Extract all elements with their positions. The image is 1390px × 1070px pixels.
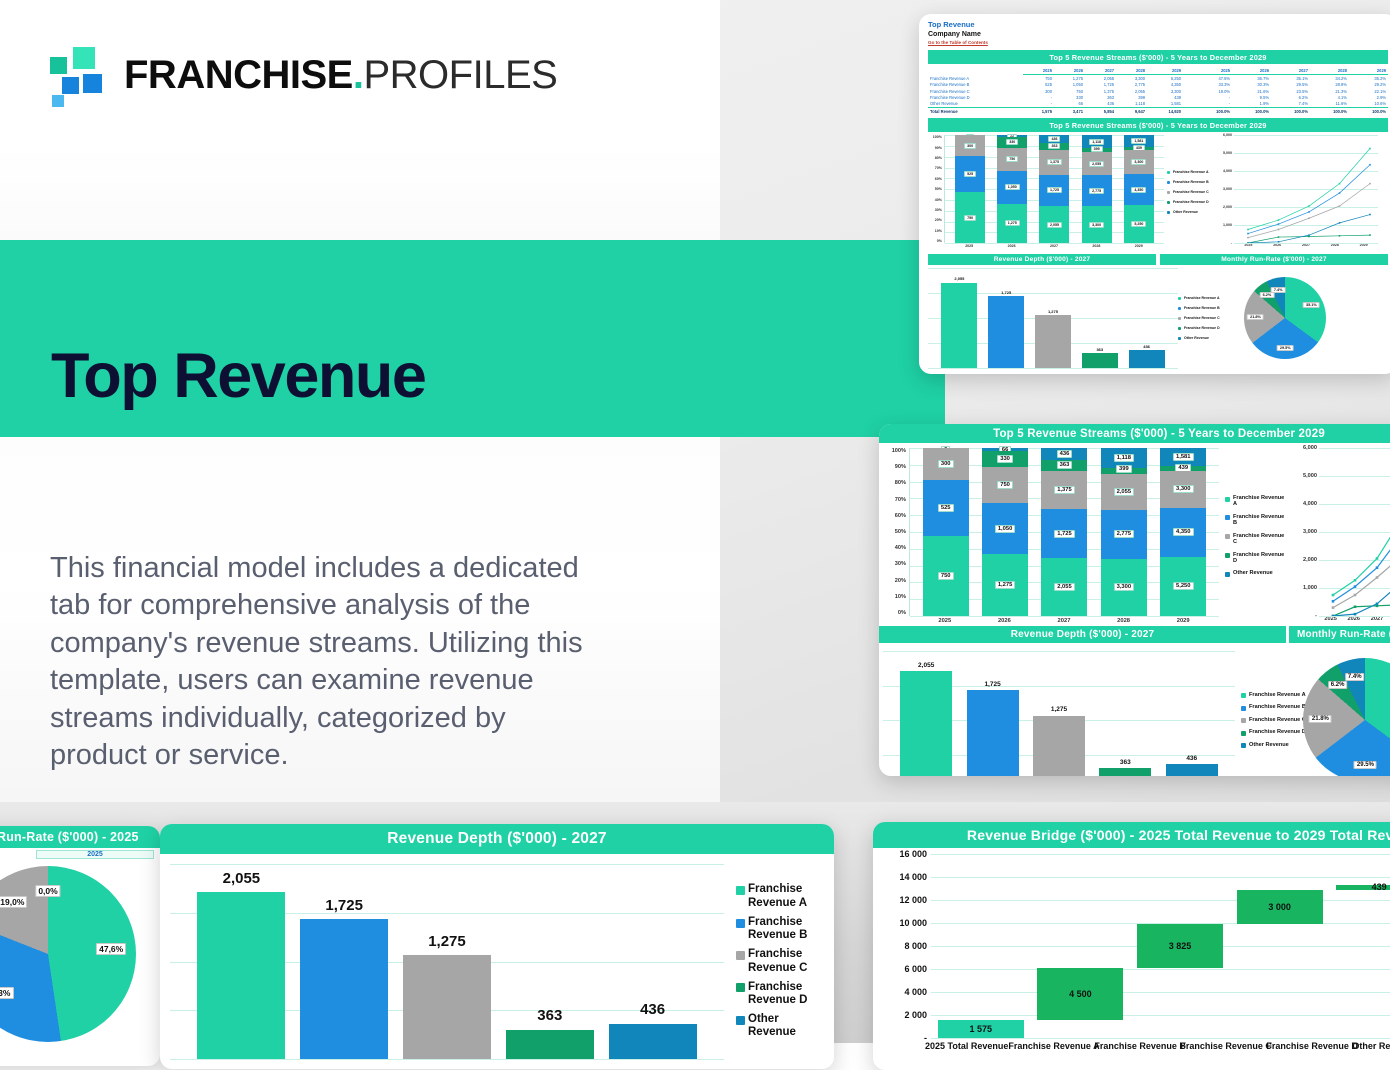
line-series [1333, 469, 1390, 595]
legend-swatch [1178, 307, 1181, 310]
legend-swatch [1178, 297, 1181, 300]
legend-label: Franchise Revenue D [1184, 326, 1220, 330]
stacked-bar-segment: 436 [1041, 448, 1087, 460]
axis-category-label: 2029 [1160, 618, 1206, 624]
data-label: 300 [938, 460, 954, 468]
pie-chart: 35.1%29.5%21.8%6.2%7.4% [1244, 277, 1326, 359]
line-marker [1369, 235, 1371, 237]
line-marker [1332, 615, 1335, 616]
line-marker [1369, 148, 1371, 150]
legend-label: Franchise Revenue B [1173, 180, 1209, 184]
line-marker [1354, 594, 1357, 597]
legend-swatch [1225, 572, 1230, 577]
data-label: 1,275 [1051, 706, 1067, 713]
legend-swatch [1241, 731, 1246, 736]
data-label: 1,118 [1114, 454, 1134, 462]
line-marker [1369, 214, 1371, 216]
pie-slice-label: 47,6% [96, 943, 126, 955]
gridline [1234, 243, 1378, 244]
data-label: 436 [1057, 450, 1073, 458]
data-label: 4 500 [1069, 989, 1092, 999]
stacked-bar-segment: 525 [923, 480, 969, 536]
axis-tick-label: 3,000 [1223, 187, 1232, 191]
axis-category-label: 2028 [1081, 244, 1111, 248]
gridline [170, 1059, 724, 1060]
stacked-bar-column: 0300525750 [923, 448, 969, 616]
legend-label: Franchise Revenue D [1233, 552, 1287, 565]
data-label: 2,775 [1089, 188, 1104, 194]
pie-slice-label: 7.4% [1345, 673, 1365, 681]
stacked-bar-segment: 1,275 [982, 554, 1028, 616]
pie-slice-label: 7.4% [1271, 287, 1286, 293]
table-year-header: 2025 [1023, 67, 1054, 75]
table-row: Franchise Revenue A7501,2752,0553,3005,2… [928, 75, 1388, 82]
stacked-bar-segment: 363 [1039, 143, 1069, 150]
table-cell-pct: 100.0% [1349, 108, 1388, 115]
worksheet-company: Company Name [928, 30, 1388, 39]
stacked-bar-segment: 1,275 [997, 204, 1027, 244]
data-label: 1,725 [325, 897, 363, 914]
stacked-bar-column: 0300525750 [955, 135, 985, 243]
axis-tick-label: 6 000 [904, 964, 927, 974]
line-marker [1247, 237, 1249, 239]
data-label: 1,275 [1048, 309, 1058, 314]
data-label: 750 [938, 572, 954, 580]
stacked-bar-segment: 3,300 [1082, 206, 1112, 243]
axis-tick-label: 70% [883, 497, 906, 503]
legend-swatch [736, 1016, 745, 1025]
legend-label: Franchise Revenue D [748, 981, 828, 1007]
stacked-bar-segment: 1,375 [1041, 471, 1087, 510]
data-label: 363 [1048, 143, 1060, 149]
depth-title-bar-top: Revenue Depth ($'000) - 2027 [928, 254, 1156, 265]
axis-tick-label: 4,000 [1223, 169, 1232, 173]
pie-chart: 35.1%29.5%21.8%6.2%7.4% [1303, 658, 1390, 776]
legend-swatch [736, 886, 745, 895]
legend-label: Franchise Revenue A [1233, 495, 1287, 508]
stacked-bar-segment: 2,055 [1041, 558, 1087, 616]
legend-swatch [1167, 211, 1170, 214]
data-label: 2,055 [954, 276, 964, 281]
legend-item: Franchise Revenue A [1178, 296, 1230, 300]
legend-label: Franchise Revenue B [1184, 306, 1220, 310]
table-header-row: 2025202620272028202920252026202720282029 [928, 67, 1388, 75]
axis-tick-label: 100% [928, 135, 942, 139]
legend-swatch [1241, 706, 1246, 711]
waterfall-bar-rect: 1 575 [938, 1020, 1024, 1038]
legend-item: Franchise Revenue D [736, 981, 828, 1007]
data-label: 1,375 [1047, 159, 1062, 165]
legend-swatch [1241, 718, 1246, 723]
franchise-profiles-logo-mark-icon [50, 47, 106, 103]
waterfall-bar: 3 825 [1137, 854, 1223, 1038]
stacked-bar-segment: 5,250 [1124, 205, 1154, 243]
legend-item: Franchise Revenue D [1225, 552, 1287, 565]
table-gap [1183, 75, 1193, 82]
axis-tick-label: 1,000 [1303, 585, 1317, 591]
table-cell-value: - [1023, 101, 1054, 108]
line-marker [1339, 193, 1341, 195]
stacked-bar-segment: 1,050 [997, 171, 1027, 204]
bar-rect [941, 283, 977, 369]
bar-rect [1129, 350, 1165, 368]
legend-label: Other Revenue [1249, 742, 1289, 748]
legend-swatch [1225, 515, 1230, 520]
data-label: 330 [997, 455, 1013, 463]
line-marker [1332, 606, 1335, 609]
legend-label: Franchise Revenue C [1173, 190, 1209, 194]
table-row-label: Other Revenue [928, 101, 1023, 108]
data-label: 1,050 [1005, 184, 1020, 190]
axis-tick-label: 2 000 [904, 1010, 927, 1020]
data-label: 3,300 [1131, 159, 1146, 165]
stacked-bar-segment: 2,775 [1082, 175, 1112, 206]
legend-item: Franchise Revenue D [1178, 326, 1230, 330]
legend-label: Franchise Revenue C [748, 948, 828, 974]
worksheet-title: Top Revenue [928, 20, 1388, 30]
pie-slice-label: 29.5% [1277, 345, 1294, 351]
axis-tick-label: 40% [928, 198, 942, 202]
pie-chart: 47,6%33,3%19,0%0,0%0,0% [0, 866, 136, 1042]
axis-tick-label: - [924, 1033, 927, 1043]
data-label: 525 [964, 171, 976, 177]
legend-label: Franchise Revenue B [1233, 514, 1287, 527]
data-label: 1,581 [1131, 138, 1146, 144]
brand-name-bold: FRANCHISE [124, 53, 353, 97]
legend-item: Franchise Revenue B [736, 916, 828, 942]
dashboard-card-top[interactable]: Top Revenue Company Name Go to the Table… [919, 14, 1390, 374]
stacked-bar-segment: 2,775 [1101, 510, 1147, 558]
axis-tick-label: 6,000 [1303, 445, 1317, 451]
stacked-bar-column: 1,1183992,0552,7753,300 [1101, 448, 1147, 616]
gridline [1319, 616, 1390, 617]
data-label: 436 [1048, 136, 1060, 142]
line-marker [1278, 224, 1280, 226]
line-marker [1369, 183, 1371, 185]
stacked-chart-title-bar: Top 5 Revenue Streams ($'000) - 5 Years … [928, 118, 1388, 132]
axis-tick-label: 12 000 [899, 895, 927, 905]
stacked-bar-column: 1,1183992,0552,7753,300 [1082, 135, 1112, 243]
bar-rect [1033, 716, 1085, 776]
table-year-header-pct: 2029 [1349, 67, 1388, 75]
legend-item: Franchise Revenue B [1241, 704, 1309, 711]
legend-swatch [1178, 327, 1181, 330]
revenue-streams-table: 2025202620272028202920252026202720282029… [928, 67, 1388, 114]
brand-name-dot: . [353, 53, 364, 97]
axis-tick-label: 5,000 [1223, 151, 1232, 155]
line-marker [1332, 600, 1335, 603]
legend-label: Other Revenue [1233, 570, 1273, 576]
data-label: 363 [1120, 759, 1131, 766]
stacked-chart-title-bar-mid: Top 5 Revenue Streams ($'000) - 5 Years … [879, 424, 1390, 443]
legend-swatch [1178, 337, 1181, 340]
legend-swatch [1225, 534, 1230, 539]
stacked-bar-segment: 3,300 [1160, 471, 1206, 508]
table-cell-pct: 10.6% [1349, 101, 1388, 108]
axis-tick-label: 80% [928, 156, 942, 160]
axis-tick-label: 4 000 [904, 987, 927, 997]
bar: 363 [506, 864, 594, 1059]
bar-rect [967, 690, 1019, 776]
line-marker [1278, 220, 1280, 222]
table-year-header-pct: 2025 [1193, 67, 1232, 75]
table-cell-value: 1,118 [1116, 101, 1147, 108]
table-body: Franchise Revenue A7501,2752,0553,3005,2… [928, 75, 1388, 115]
table-cell-pct: 35.1% [1271, 75, 1310, 82]
data-label: 1,725 [1047, 187, 1062, 193]
axis-tick-label: 30% [928, 208, 942, 212]
stacked-bar-column: 663307501,0501,275 [997, 135, 1027, 243]
table-cell-value: 14,920 [1147, 108, 1183, 115]
data-label: 3 000 [1268, 902, 1291, 912]
stacked-bar-segment: 363 [1041, 460, 1087, 470]
hero-description: This financial model includes a dedicate… [50, 550, 610, 774]
data-label: 1,050 [995, 525, 1016, 533]
axis-tick-label: 70% [928, 166, 942, 170]
table-cell-value: 9,647 [1116, 108, 1147, 115]
axis-tick-label: 100% [883, 448, 906, 454]
bar: 2,055 [197, 864, 285, 1059]
legend-item: Other Revenue [1241, 742, 1309, 749]
bar: 1,725 [967, 651, 1019, 776]
data-label: 5,250 [1131, 221, 1146, 227]
dashboard-card-revenue-bridge[interactable]: Revenue Bridge ($'000) - 2025 Total Reve… [873, 822, 1390, 1070]
table-cell-value: 3,471 [1054, 108, 1085, 115]
data-label: 1,275 [995, 581, 1016, 589]
axis-tick-label: - [1231, 241, 1232, 245]
axis-tick-label: 10% [883, 594, 906, 600]
legend-item: Other Revenue [1225, 570, 1287, 577]
stacked-bar-segment: 300 [923, 448, 969, 480]
stacked-bar-column: 1,5814393,3004,3505,250 [1124, 135, 1154, 243]
bar: 1,275 [1035, 268, 1071, 368]
brand-logo: FRANCHISE.PROFILES [50, 47, 557, 103]
legend-swatch [1241, 743, 1246, 748]
table-row: Other Revenue-664361,1181,581-1.9%7.4%11… [928, 101, 1388, 108]
line-marker [1376, 576, 1379, 579]
axis-tick-label: 2,000 [1223, 205, 1232, 209]
stacked-bar-segment: 525 [955, 156, 985, 192]
data-label: 4,350 [1173, 528, 1194, 536]
bar-rect [1082, 353, 1118, 368]
dashboard-card-revenue-depth[interactable]: Revenue Depth ($'000) - 2027 2,0551,7251… [160, 824, 834, 1069]
legend-swatch [1167, 201, 1170, 204]
line-series [1248, 149, 1370, 230]
legend-label: Franchise Revenue C [1184, 316, 1220, 320]
bar: 436 [609, 864, 697, 1059]
line-marker [1354, 613, 1357, 616]
stacked-bar-segment: 750 [997, 148, 1027, 171]
legend-swatch [736, 919, 745, 928]
line-series [1248, 165, 1370, 234]
table-of-contents-link[interactable]: Go to the Table of Contents [928, 40, 1388, 47]
line-marker [1369, 164, 1371, 166]
legend-label: Franchise Revenue B [1249, 704, 1306, 710]
brand-name-light: PROFILES [363, 53, 557, 97]
table-cell-pct: 7.4% [1271, 101, 1310, 108]
legend-swatch [1225, 497, 1230, 502]
table-row: Total Revenue1,5753,4715,8549,64714,9201… [928, 108, 1388, 115]
table-cell-value: 66 [1054, 101, 1085, 108]
line-marker [1308, 235, 1310, 237]
data-label: 3,300 [1089, 222, 1104, 228]
axis-category-label: 2025 [954, 244, 984, 248]
legend-item: Franchise Revenue B [1178, 306, 1230, 310]
legend-item: Other Revenue [1167, 210, 1212, 214]
data-label: 1,581 [1173, 453, 1194, 461]
data-label: 750 [964, 215, 976, 221]
stacked-bar-segment: 1,725 [1039, 175, 1069, 206]
table-year-header-pct: 2027 [1271, 67, 1310, 75]
pie-slice-label: 6.2% [1328, 681, 1348, 689]
stacked-bar-segment: 4,350 [1124, 174, 1154, 205]
page-title: Top Revenue [51, 345, 425, 408]
bar: 436 [1129, 268, 1165, 368]
data-label: 1,725 [984, 681, 1000, 688]
table-year-header-pct: 2028 [1310, 67, 1349, 75]
legend-item: Franchise Revenue A [736, 883, 828, 909]
runrate-2025-title-bar: Monthly Run-Rate ($'000) - 2025 [0, 826, 160, 848]
stacked-bar-column: 663307501,0501,275 [982, 448, 1028, 616]
data-label: 750 [1006, 156, 1018, 162]
line-marker [1247, 233, 1249, 235]
bar: 1,725 [988, 268, 1024, 368]
line-series [1333, 604, 1390, 616]
line-marker [1376, 557, 1379, 560]
bar: 1,275 [1033, 651, 1085, 776]
bar-rect [506, 1030, 594, 1059]
table-cell-pct: 34.2% [1310, 75, 1349, 82]
table-cell-pct: 100.0% [1232, 108, 1271, 115]
data-label: 2,055 [1114, 488, 1135, 496]
line-marker [1247, 242, 1249, 243]
table-cell-value: 750 [1023, 75, 1054, 82]
bar-rect [1035, 315, 1071, 368]
data-label: 399 [1116, 465, 1132, 473]
stacked-bar-segment: 750 [955, 192, 985, 243]
line-marker [1339, 183, 1341, 185]
axis-tick-label: 30% [883, 561, 906, 567]
bar-rect [300, 919, 388, 1059]
waterfall-bar: 4 500 [1037, 854, 1123, 1038]
legend-label: Franchise Revenue B [748, 916, 828, 942]
axis-tick-label: 60% [883, 513, 906, 519]
legend-label: Franchise Revenue A [1173, 170, 1208, 174]
data-label: 330 [1006, 139, 1018, 145]
legend-item: Franchise Revenue D [1167, 200, 1212, 204]
depth-title-bar-mid: Revenue Depth ($'000) - 2027 [879, 626, 1286, 643]
table-cell-pct: - [1193, 101, 1232, 108]
stacked-bar-segment: 750 [982, 467, 1028, 503]
bar-rect [403, 955, 491, 1059]
dashboard-card-runrate-2025[interactable]: Monthly Run-Rate ($'000) - 2025 2025 47,… [0, 826, 160, 1066]
legend-swatch [1178, 317, 1181, 320]
stacked-bar-segment: 5,250 [1160, 557, 1206, 616]
stacked-bar-segment: 399 [1101, 468, 1147, 475]
axis-tick-label: 50% [883, 529, 906, 535]
data-label: 439 [1372, 882, 1387, 892]
axis-tick-label: 1,000 [1223, 223, 1232, 227]
pie-slice-label: 35.1% [1303, 302, 1320, 308]
axis-tick-label: 10 000 [899, 918, 927, 928]
revenue-bridge-title-bar: Revenue Bridge ($'000) - 2025 Total Reve… [873, 822, 1390, 848]
data-label: 1,725 [1001, 290, 1011, 295]
axis-tick-label: 3,000 [1303, 529, 1317, 535]
data-label: 1,275 [428, 933, 466, 950]
data-label: 5,250 [1173, 582, 1194, 590]
bar: 2,055 [900, 651, 952, 776]
bar-rect [1099, 768, 1151, 776]
runrate-title-bar-top: Monthly Run-Rate ($'000) - 2027 [1160, 254, 1388, 265]
axis-category-label: 2028 [1101, 618, 1147, 624]
stacked-bar-segment: 750 [923, 536, 969, 616]
table-year-header: 2027 [1085, 67, 1116, 75]
data-label: 436 [1186, 755, 1197, 762]
axis-tick-label: 8 000 [904, 941, 927, 951]
legend-label: Other Revenue [1184, 336, 1209, 340]
legend-item: Franchise Revenue A [1167, 170, 1212, 174]
line-marker [1332, 594, 1335, 597]
line-marker [1308, 205, 1310, 207]
data-label: 1,725 [1054, 530, 1075, 538]
legend-item: Franchise Revenue B [1167, 180, 1212, 184]
axis-tick-label: 40% [883, 545, 906, 551]
stacked-bar-segment: 1,375 [1039, 150, 1069, 175]
table-cell-pct: 11.6% [1310, 101, 1349, 108]
data-label: 1,118 [1089, 139, 1104, 145]
table-cell-value: 436 [1085, 101, 1116, 108]
data-label: 1 575 [970, 1024, 993, 1034]
data-label: 1,375 [1054, 486, 1075, 494]
runrate-title-bar-mid: Monthly Run-Rate ($'000) - 2027 [1289, 626, 1390, 643]
line-marker [1339, 235, 1341, 237]
table-row-label: Franchise Revenue A [928, 75, 1023, 82]
data-label: 363 [1057, 461, 1073, 469]
line-series [1333, 494, 1390, 601]
axis-tick-label: 4,000 [1303, 501, 1317, 507]
dashboard-card-middle[interactable]: Top 5 Revenue Streams ($'000) - 5 Years … [879, 424, 1390, 776]
gridline [928, 368, 1178, 369]
table-gap [1183, 108, 1193, 115]
table-cell-value: 5,250 [1147, 75, 1183, 82]
line-marker [1339, 205, 1341, 207]
pie-slice-label: 19,0% [0, 896, 27, 908]
legend-label: Franchise Revenue D [1173, 200, 1209, 204]
stacked-bar-segment: 1,725 [1041, 509, 1087, 558]
legend-label: Franchise Revenue A [748, 883, 828, 909]
data-label: 3 825 [1169, 941, 1192, 951]
axis-category-label: 2026 [997, 244, 1027, 248]
line-marker [1339, 222, 1341, 224]
legend-item: Franchise Revenue A [1225, 495, 1287, 508]
table-cell-value: 2,055 [1085, 75, 1116, 82]
table-cell-pct: 1.9% [1232, 101, 1271, 108]
data-label: 4,350 [1131, 187, 1146, 193]
legend-label: Franchise Revenue A [1249, 692, 1306, 698]
axis-tick-label: 50% [928, 187, 942, 191]
stacked-bar-column: 4363631,3751,7252,055 [1041, 448, 1087, 616]
data-label: 363 [1096, 347, 1103, 352]
data-label: 436 [640, 1001, 665, 1018]
axis-tick-label: 16 000 [899, 849, 927, 859]
legend-swatch [1225, 553, 1230, 558]
legend-label: Other Revenue [748, 1013, 828, 1039]
data-label: 2,775 [1114, 530, 1135, 538]
table-year-header: 2028 [1116, 67, 1147, 75]
legend-label: Franchise Revenue C [1233, 533, 1287, 546]
table-cell-value: 1,275 [1054, 75, 1085, 82]
bar: 363 [1099, 651, 1151, 776]
